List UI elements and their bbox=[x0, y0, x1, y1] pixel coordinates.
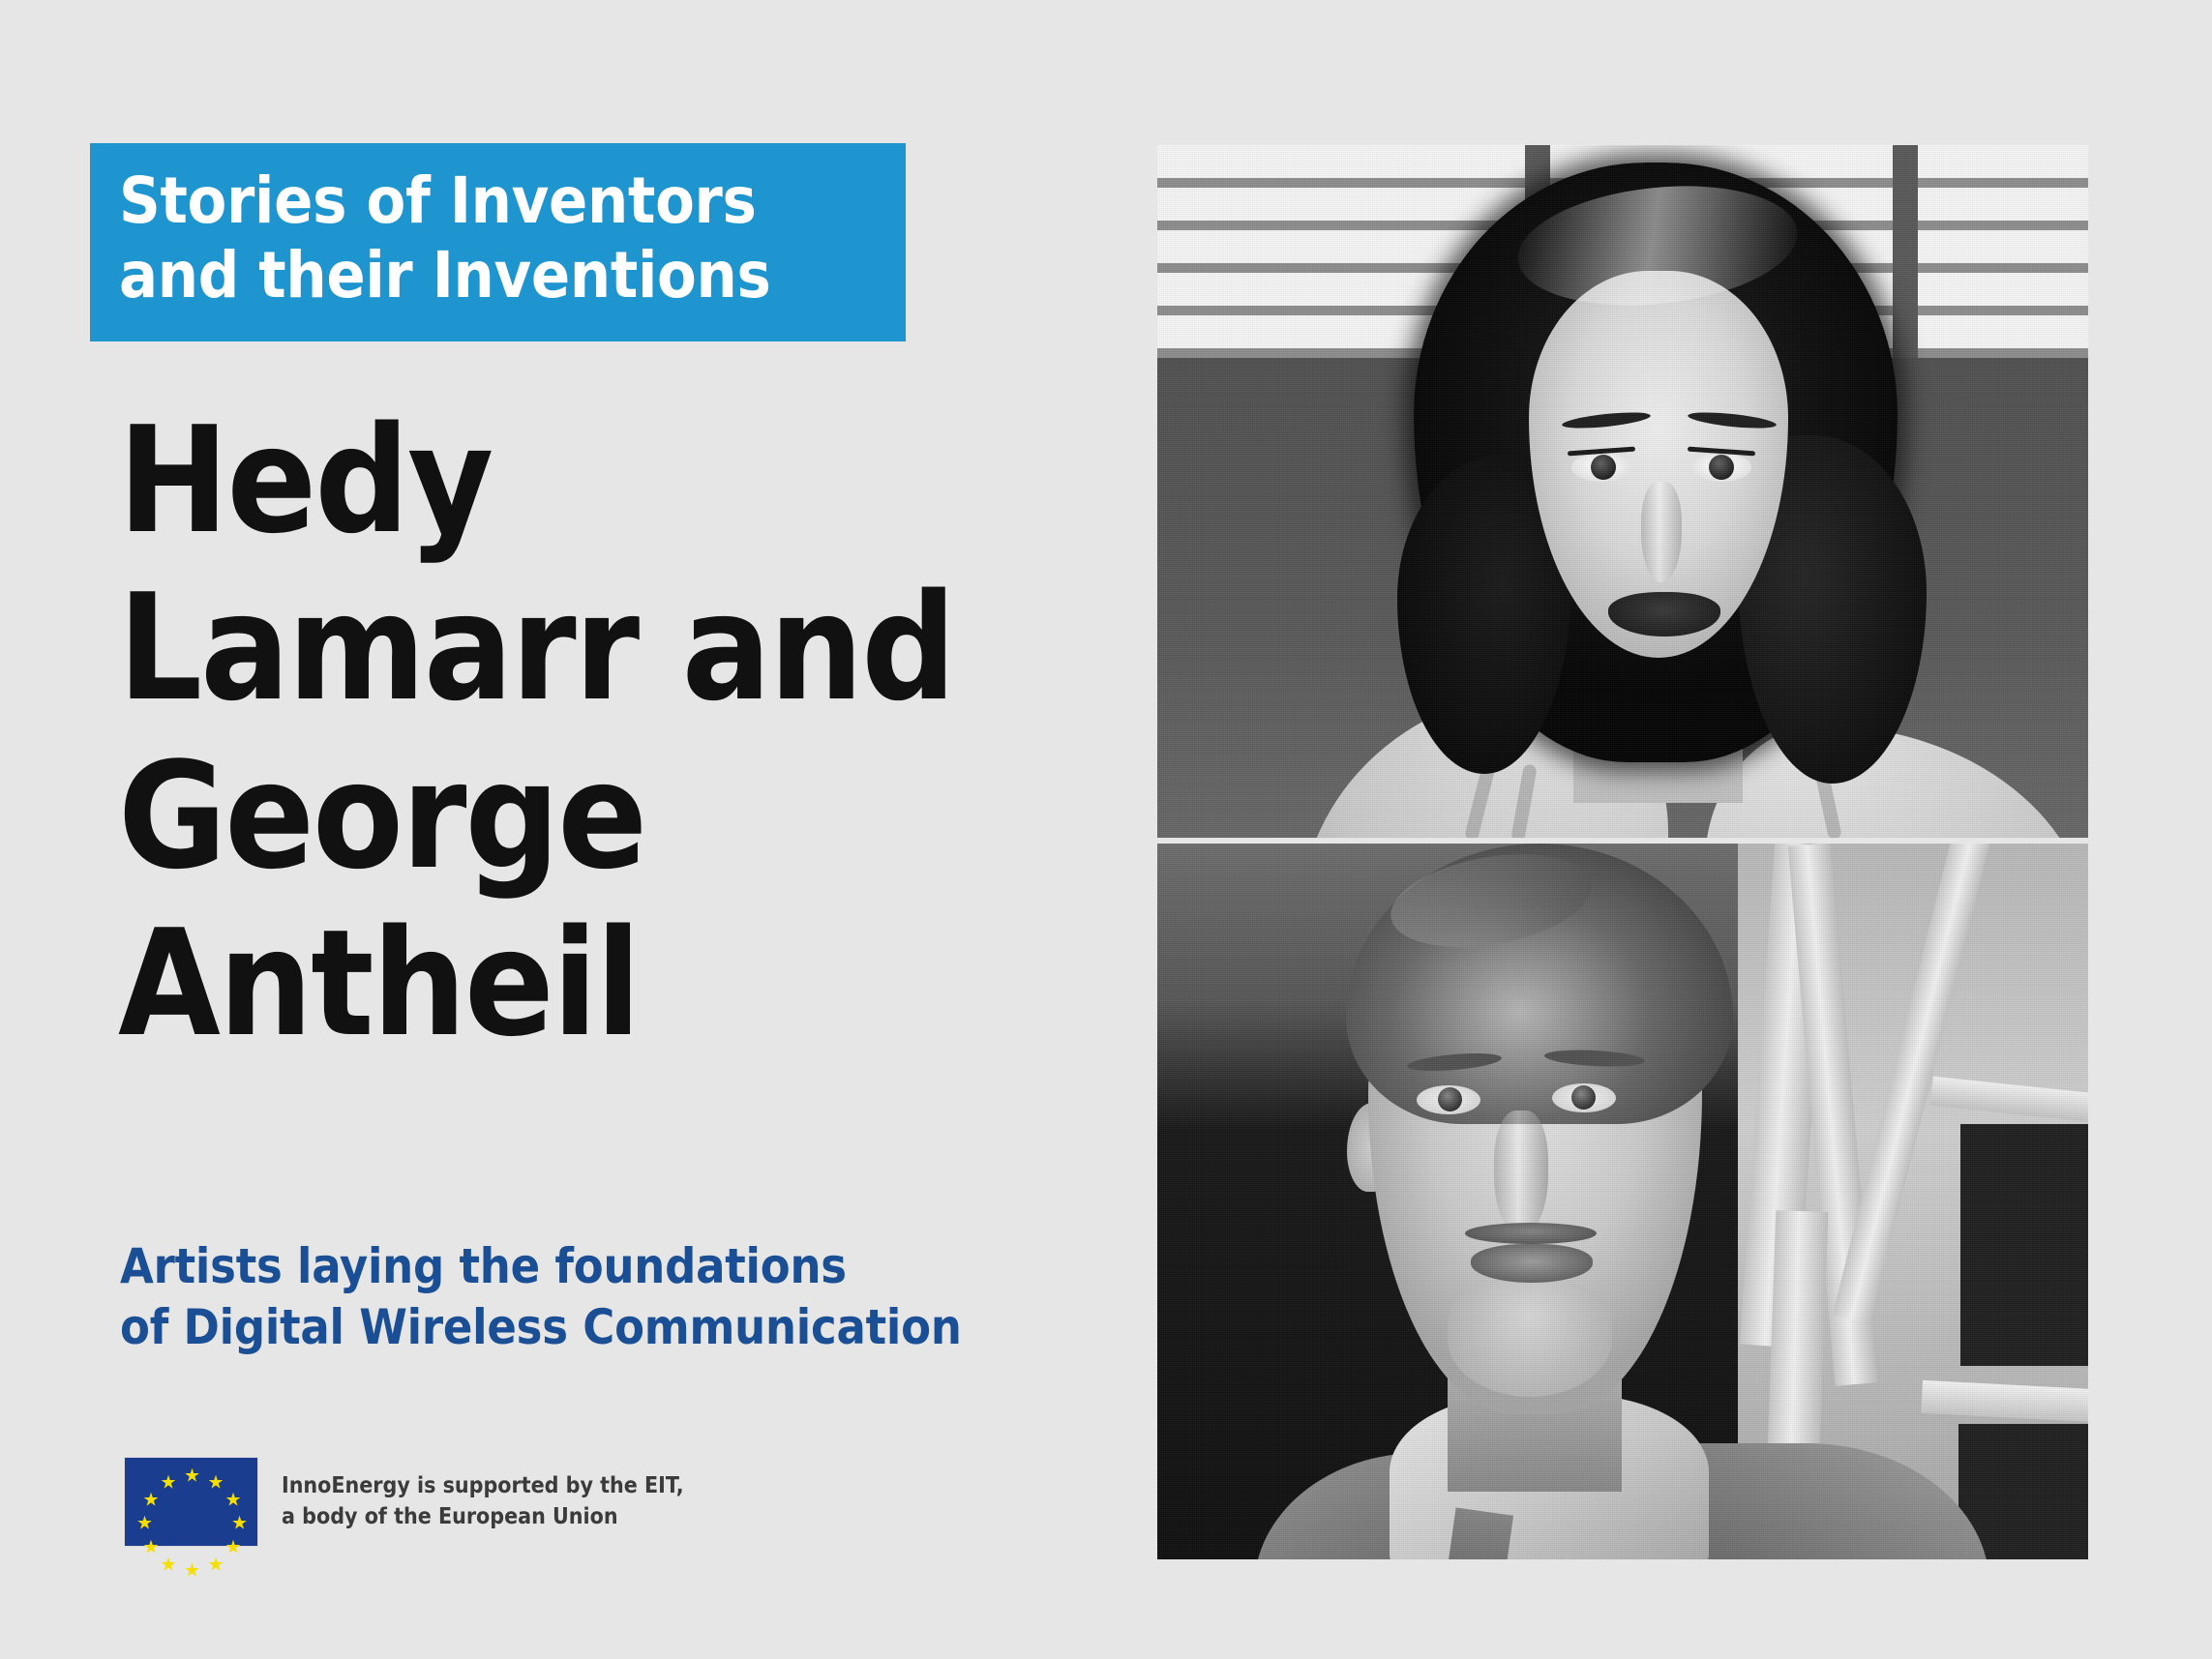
george-antheil-photo-content bbox=[1157, 844, 2088, 1559]
iris-left bbox=[1591, 455, 1616, 480]
iris-left bbox=[1438, 1087, 1462, 1111]
hedy-lamarr-photo-content bbox=[1157, 145, 2088, 838]
page-title-line-2: Lamarr and bbox=[118, 564, 1086, 731]
nose bbox=[1494, 1111, 1548, 1234]
series-eyebrow-banner: Stories of Inventors and their Invention… bbox=[90, 143, 906, 341]
page-subtitle-line-1: Artists laying the foundations bbox=[120, 1236, 1088, 1297]
left-content-column: Stories of Inventors and their Invention… bbox=[0, 0, 1113, 1659]
lips bbox=[1471, 1244, 1593, 1283]
footer-credit-line-2: a body of the European Union bbox=[282, 1502, 684, 1533]
iris-right bbox=[1709, 455, 1734, 480]
page-subtitle-line-2: of Digital Wireless Communication bbox=[120, 1297, 1088, 1358]
hedy-lamarr-portrait-photo bbox=[1157, 145, 2088, 838]
page-title-line-1: Hedy bbox=[118, 397, 1086, 564]
nose bbox=[1641, 482, 1682, 582]
series-eyebrow-line-2: and their Inventions bbox=[119, 239, 877, 313]
page-title-line-4: Antheil bbox=[118, 900, 1086, 1067]
moustache bbox=[1465, 1223, 1597, 1244]
dark-window-panel-1 bbox=[1960, 1124, 2088, 1366]
portrait-photo-column bbox=[1157, 145, 2088, 1559]
footer-credit-text: InnoEnergy is supported by the EIT, a bo… bbox=[282, 1471, 684, 1532]
european-union-flag-icon bbox=[124, 1457, 258, 1547]
window-mullion-right bbox=[1893, 145, 1918, 358]
page-title: Hedy Lamarr and George Antheil bbox=[118, 397, 1086, 1067]
series-eyebrow-line-1: Stories of Inventors bbox=[119, 164, 877, 239]
george-antheil-portrait-photo bbox=[1157, 844, 2088, 1559]
chin bbox=[1448, 1281, 1612, 1397]
footer-credit-line-1: InnoEnergy is supported by the EIT, bbox=[282, 1471, 684, 1502]
footer-credit: InnoEnergy is supported by the EIT, a bo… bbox=[124, 1457, 684, 1547]
page-title-line-3: George bbox=[118, 732, 1086, 900]
page-subtitle: Artists laying the foundations of Digita… bbox=[120, 1236, 1088, 1358]
iris-right bbox=[1571, 1085, 1596, 1110]
